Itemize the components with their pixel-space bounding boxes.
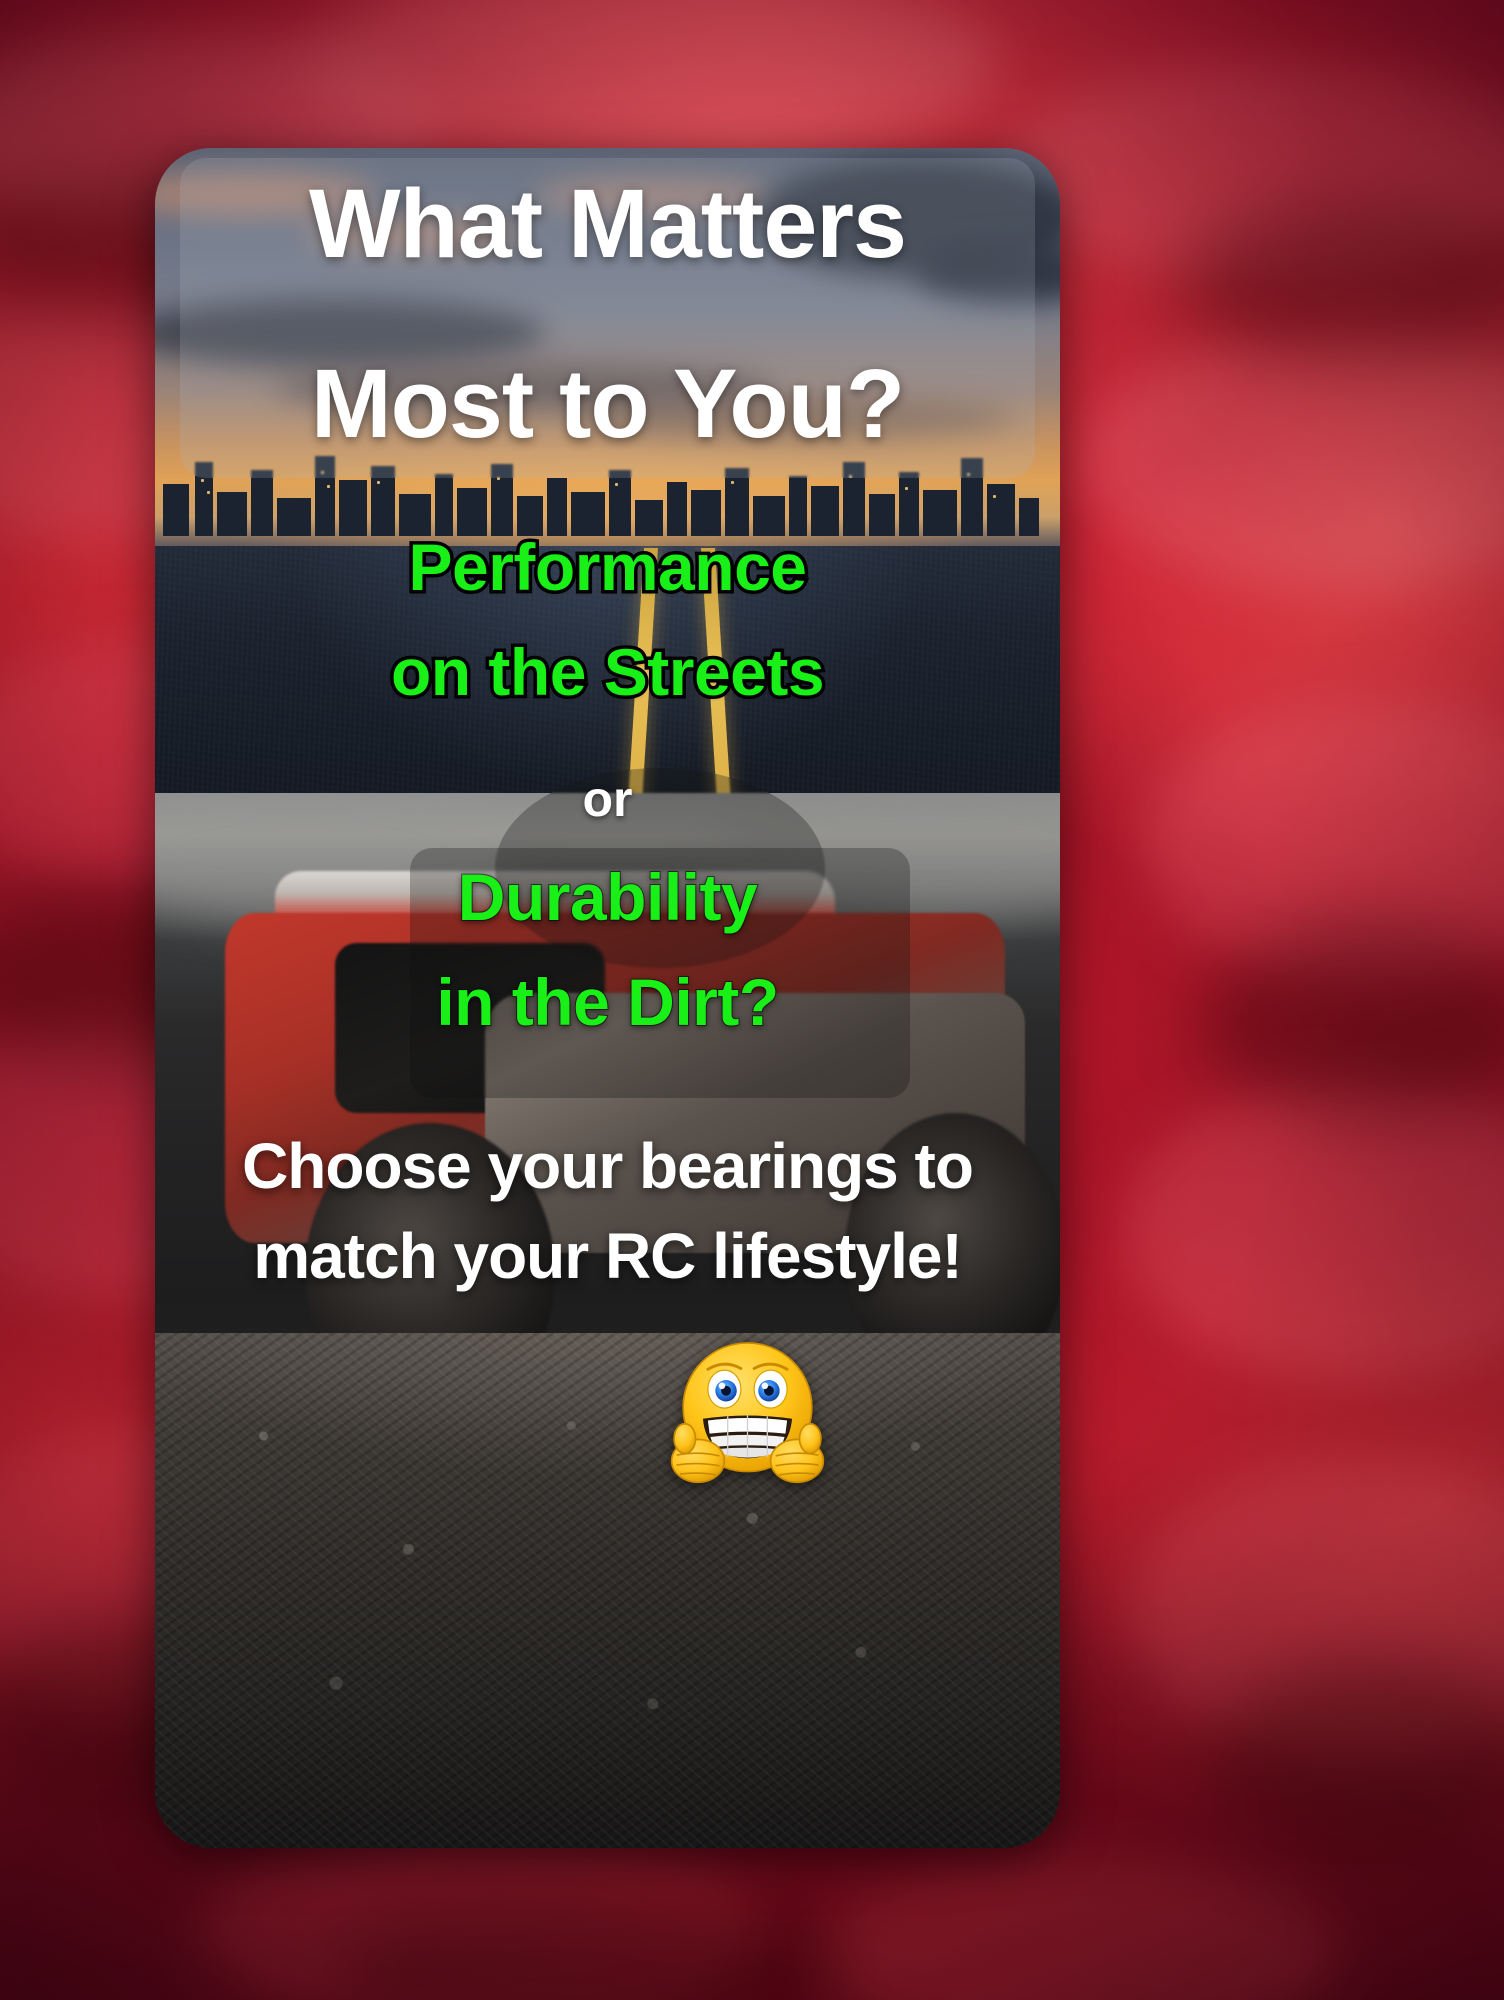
cta-line1: Choose your bearings to [155, 1133, 1060, 1201]
poster-title-line1: What Matters [155, 173, 1060, 276]
option-b-line1: Durability [155, 863, 1060, 933]
poster-title-line2: Most to You? [155, 353, 1060, 456]
poster-card: What Matters Most to You? Performance on… [155, 148, 1060, 1848]
connector-or: or [155, 773, 1060, 826]
dirt-ground [155, 1333, 1060, 1848]
option-a-line1: Performance [155, 533, 1060, 603]
option-a-line2: on the Streets [155, 638, 1060, 708]
cta-line2: match your RC lifestyle! [155, 1223, 1060, 1291]
grinning-thumbs-up-emoji-icon [665, 1333, 830, 1498]
option-b-line2: in the Dirt? [155, 968, 1060, 1038]
